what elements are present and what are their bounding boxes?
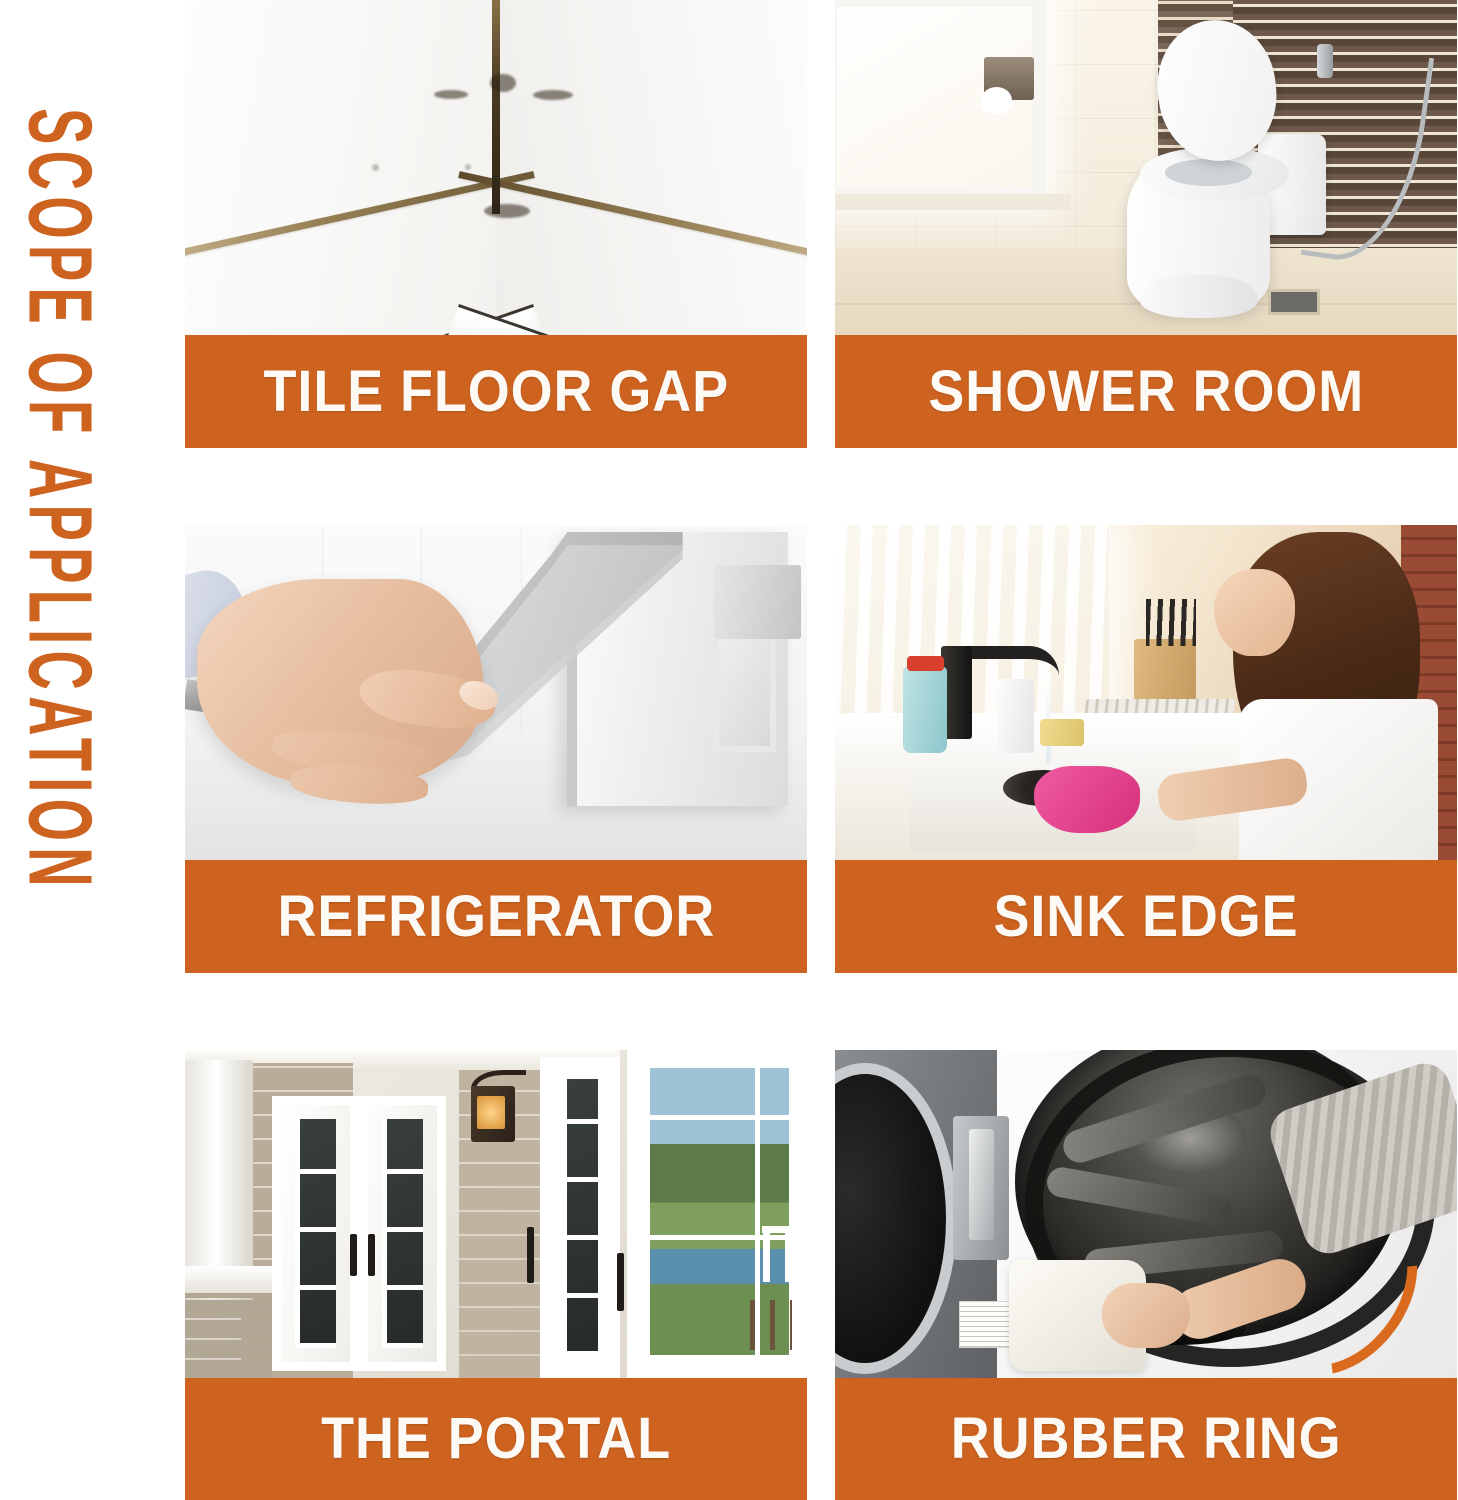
wall-left <box>185 0 496 335</box>
illustration-washing-machine <box>835 1050 1457 1378</box>
photo-tile-floor-gap <box>185 0 807 335</box>
door-handle <box>527 1227 534 1283</box>
vertical-headline-area: SCOPE OF APPLICATION <box>0 0 180 1500</box>
door-muntin-grid <box>562 1079 599 1356</box>
washer-hinge-pin <box>969 1129 994 1241</box>
caption-bar-tile-floor-gap: TILE FLOOR GAP <box>185 335 807 448</box>
mold-spot <box>372 164 379 171</box>
sponge <box>1040 719 1084 746</box>
grid-cell-the-portal: THE PORTAL <box>185 1050 807 1500</box>
photo-shower-room <box>835 0 1457 335</box>
caption-bar-sink-edge: SINK EDGE <box>835 860 1457 973</box>
illustration-moldy-corner <box>185 0 807 335</box>
grout-line-vertical <box>492 0 500 214</box>
illustration-bathroom <box>835 0 1457 335</box>
caption-label: RUBBER RING <box>951 1410 1342 1468</box>
french-door-left <box>272 1096 359 1372</box>
photo-sink-edge <box>835 525 1457 860</box>
lantern-light <box>477 1096 505 1129</box>
caption-bar-shower-room: SHOWER ROOM <box>835 335 1457 448</box>
toilet-paper-roll-icon <box>981 87 1012 114</box>
illustration-refrigerator-gasket <box>185 525 807 860</box>
spray-bottle-trigger <box>907 656 944 671</box>
running-water <box>1046 672 1051 762</box>
illustration-french-doors <box>185 1050 807 1378</box>
photo-refrigerator <box>185 525 807 860</box>
door-handle <box>368 1234 375 1276</box>
caption-bar-the-portal: THE PORTAL <box>185 1378 807 1500</box>
window-sill <box>835 194 1071 210</box>
door-handle <box>350 1234 357 1276</box>
mold-spot <box>465 164 471 170</box>
column-stone-base <box>185 1293 272 1378</box>
bidet-sprayer-head-icon <box>1317 44 1333 78</box>
caption-label: SINK EDGE <box>993 888 1298 946</box>
window-curtain <box>835 525 1109 719</box>
caption-bar-rubber-ring: RUBBER RING <box>835 1378 1457 1500</box>
pink-rubber-glove <box>1034 766 1140 833</box>
knives-icon <box>1146 599 1196 646</box>
photo-rubber-ring <box>835 1050 1457 1378</box>
grid-cell-rubber-ring: RUBBER RING <box>835 1050 1457 1500</box>
door-handle <box>617 1253 624 1311</box>
window <box>835 0 1046 201</box>
page-title-text: SCOPE OF APPLICATION <box>8 108 112 893</box>
grid-cell-sink-edge: SINK EDGE <box>835 525 1457 973</box>
caption-bar-refrigerator: REFRIGERATOR <box>185 860 807 973</box>
grid-cell-refrigerator: REFRIGERATOR <box>185 525 807 973</box>
hand <box>1102 1283 1189 1349</box>
column-base-cap <box>185 1266 272 1292</box>
glass-door-middle <box>540 1057 621 1378</box>
grid-cell-tile-floor-gap: TILE FLOOR GAP <box>185 0 807 448</box>
toilet-base <box>1140 275 1258 319</box>
caption-label: TILE FLOOR GAP <box>263 363 729 421</box>
toilet-seat-opening <box>1165 159 1252 186</box>
application-grid: TILE FLOOR GAP <box>185 0 1457 1500</box>
spray-bottle <box>903 666 947 753</box>
fridge-door-hinge <box>714 565 801 639</box>
caption-label: SHOWER ROOM <box>928 363 1364 421</box>
illustration-kitchen-sink <box>835 525 1457 860</box>
mold-spot <box>490 74 516 92</box>
door-muntin-grid <box>382 1119 423 1349</box>
caption-label: THE PORTAL <box>321 1410 671 1468</box>
photo-the-portal <box>185 1050 807 1378</box>
grid-cell-shower-room: SHOWER ROOM <box>835 0 1457 448</box>
deck-railing <box>750 1300 792 1349</box>
infographic-page: SCOPE OF APPLICATION <box>0 0 1458 1500</box>
girl-face <box>1214 569 1295 656</box>
soap-dispenser <box>997 679 1034 753</box>
page-title: SCOPE OF APPLICATION <box>8 108 112 1374</box>
pergola-posts <box>763 1232 789 1281</box>
wall-right <box>496 0 807 335</box>
caption-label: REFRIGERATOR <box>277 888 715 946</box>
door-muntin-grid <box>295 1119 336 1349</box>
glass-door-right <box>627 1050 807 1378</box>
floor-drain-icon <box>1268 289 1320 315</box>
